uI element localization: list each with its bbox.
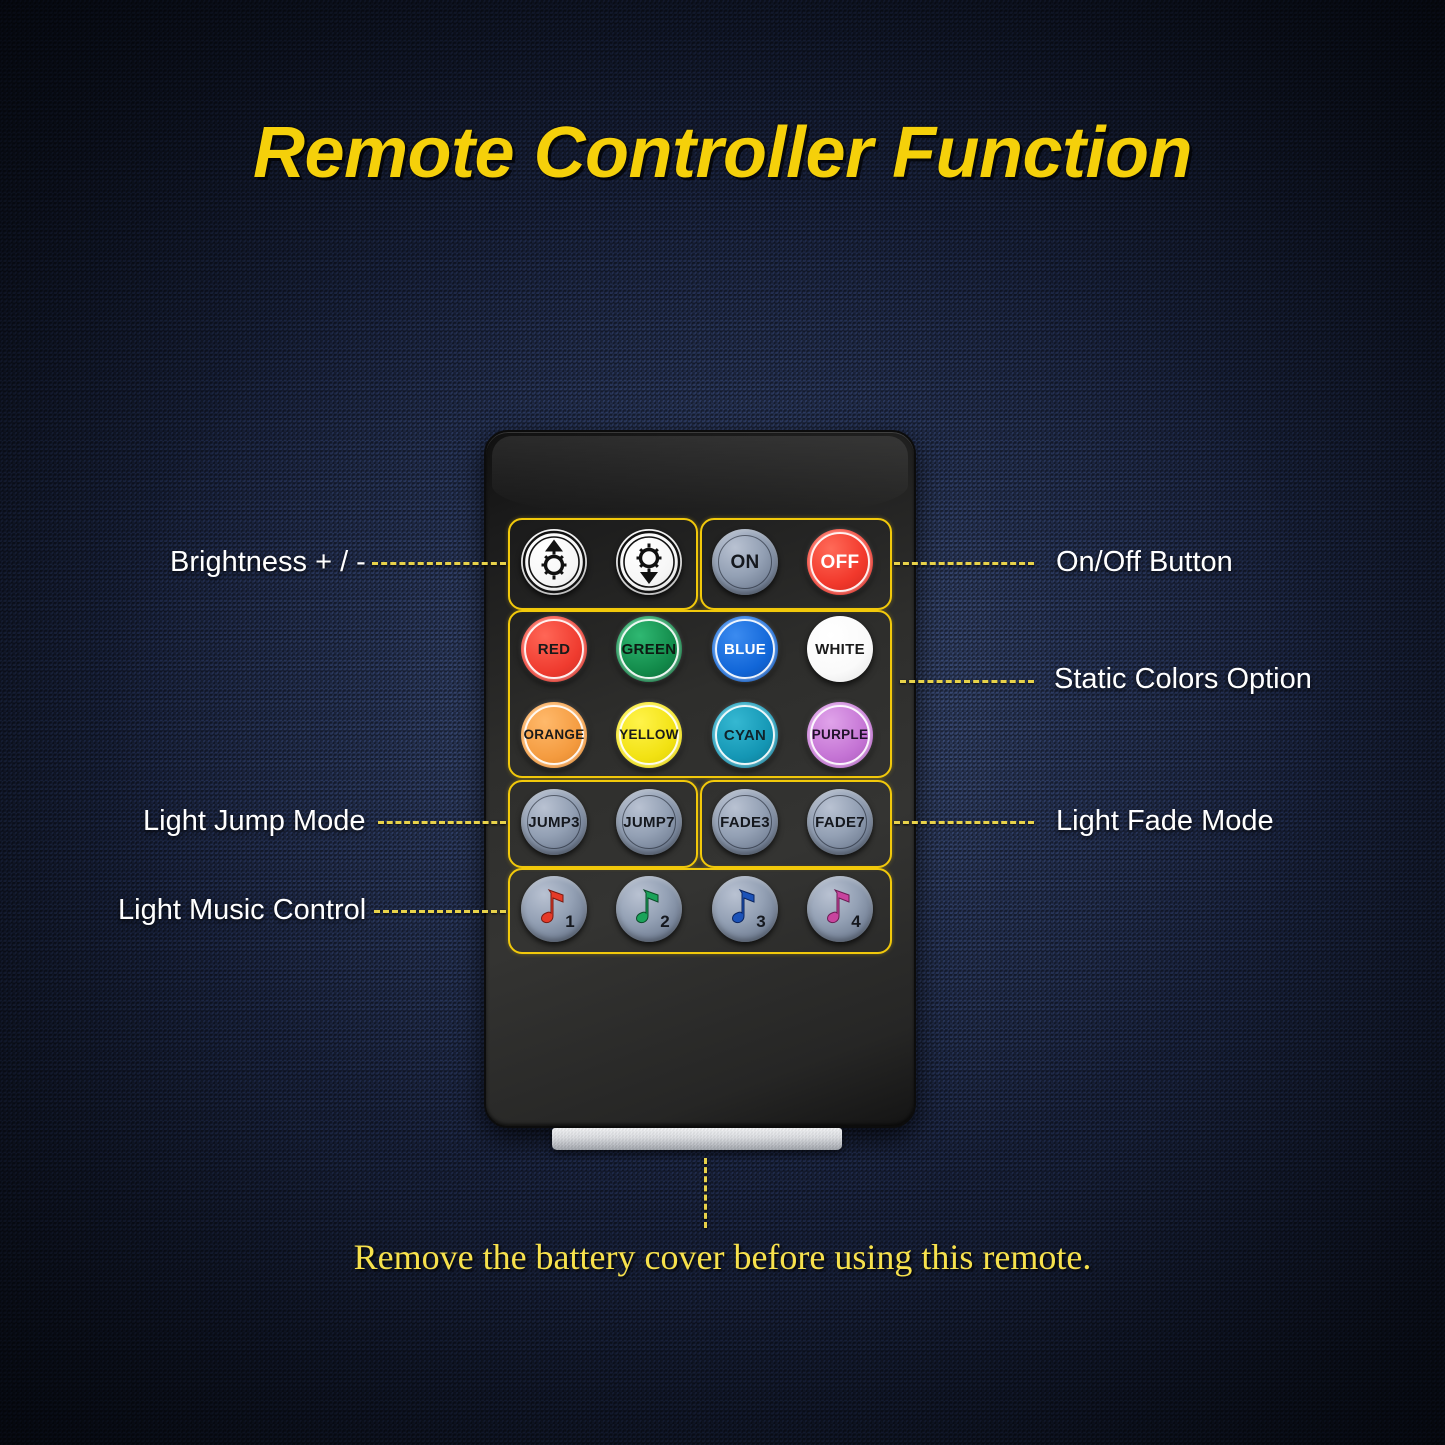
yellow-button[interactable]: YELLOW [616, 702, 682, 768]
leader-fade [894, 821, 1034, 824]
annotation-jump: Light Jump Mode [143, 805, 365, 838]
cyan-button[interactable]: CYAN [712, 702, 778, 768]
sun-up-icon [521, 529, 587, 595]
off-button-label: OFF [821, 553, 860, 572]
sun-down-icon [616, 529, 682, 595]
fade3-button[interactable]: FADE3 [712, 789, 778, 855]
blue-button[interactable]: BLUE [712, 616, 778, 682]
music-3-button[interactable]: 3 [712, 876, 778, 942]
brightness-down-button[interactable] [616, 529, 682, 595]
annotation-onoff: On/Off Button [1056, 546, 1233, 579]
annotation-music: Light Music Control [118, 894, 366, 927]
white-button[interactable]: WHITE [807, 616, 873, 682]
green-button-label: GREEN [622, 642, 677, 657]
purple-button[interactable]: PURPLE [807, 702, 873, 768]
green-button[interactable]: GREEN [616, 616, 682, 682]
blue-button-label: BLUE [724, 642, 766, 657]
button-ring [813, 795, 867, 849]
jump3-button[interactable]: JUMP3 [521, 789, 587, 855]
annotation-brightness: Brightness + / - [170, 546, 366, 579]
music-2-button[interactable]: 2 [616, 876, 682, 942]
fade7-button[interactable]: FADE7 [807, 789, 873, 855]
purple-button-label: PURPLE [812, 728, 869, 742]
jump7-button[interactable]: JUMP7 [616, 789, 682, 855]
leader-static-colors [900, 680, 1034, 683]
button-ring [622, 795, 676, 849]
leader-onoff [894, 562, 1034, 565]
page-title: Remote Controller Function [0, 112, 1445, 194]
orange-button-label: ORANGE [523, 728, 584, 742]
red-button[interactable]: RED [521, 616, 587, 682]
leader-jump [378, 821, 506, 824]
red-button-label: RED [538, 642, 571, 657]
button-ring [718, 535, 772, 589]
annotation-fade: Light Fade Mode [1056, 805, 1274, 838]
button-ring [718, 795, 772, 849]
leader-music [374, 910, 506, 913]
yellow-button-label: YELLOW [619, 728, 679, 742]
annotation-static-colors: Static Colors Option [1054, 663, 1312, 696]
leader-brightness [372, 562, 506, 565]
music-1-number: 1 [565, 913, 575, 930]
orange-button[interactable]: ORANGE [521, 702, 587, 768]
music-4-button[interactable]: 4 [807, 876, 873, 942]
off-button[interactable]: OFF [807, 529, 873, 595]
on-button[interactable]: ON [712, 529, 778, 595]
brightness-up-button[interactable] [521, 529, 587, 595]
leader-battery-cover [704, 1158, 707, 1228]
music-3-number: 3 [756, 913, 766, 930]
music-1-button[interactable]: 1 [521, 876, 587, 942]
music-4-number: 4 [851, 913, 861, 930]
cyan-button-label: CYAN [724, 728, 766, 743]
white-button-label: WHITE [815, 642, 865, 657]
music-2-number: 2 [660, 913, 670, 930]
remote-gloss [492, 436, 908, 518]
battery-cover[interactable] [552, 1128, 842, 1150]
button-ring [527, 795, 581, 849]
battery-cover-caption: Remove the battery cover before using th… [0, 1236, 1445, 1278]
